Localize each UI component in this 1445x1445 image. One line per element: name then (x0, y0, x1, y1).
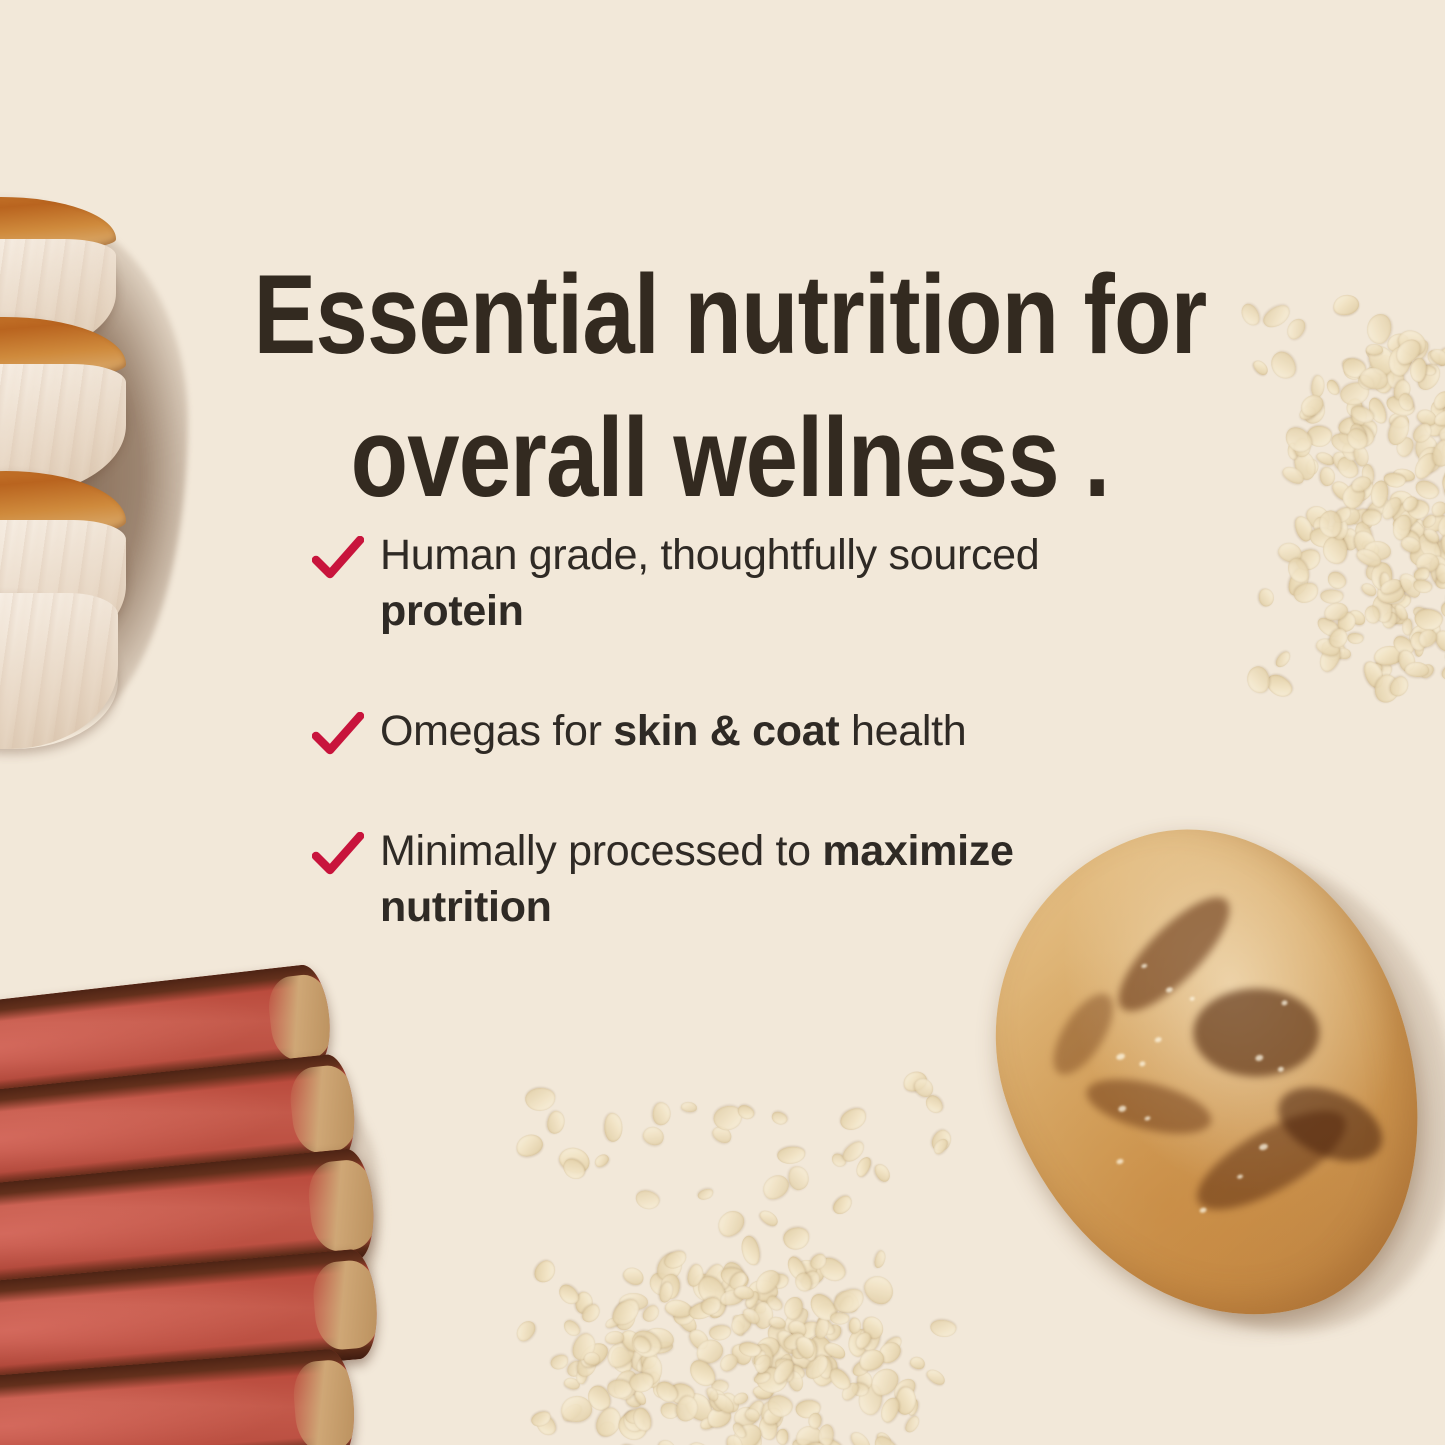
benefits-list: Human grade, thoughtfully sourced protei… (312, 528, 1172, 935)
list-item: Human grade, thoughtfully sourced protei… (312, 528, 1172, 640)
list-item-label: Human grade, thoughtfully sourced protei… (380, 528, 1172, 640)
check-icon (312, 712, 364, 758)
promo-banner: Essential nutrition for overall wellness… (0, 0, 1445, 1445)
check-icon (312, 536, 364, 582)
page-title: Essential nutrition for overall wellness… (243, 243, 1217, 530)
list-item: Omegas for skin & coat health (312, 704, 1172, 760)
headline-line-1: Essential nutrition for (243, 243, 1217, 386)
list-item-label: Omegas for skin & coat health (380, 704, 1172, 760)
list-item-label: Minimally processed to maximize nutritio… (380, 824, 1172, 936)
content-layer: Essential nutrition for overall wellness… (0, 0, 1445, 1445)
list-item: Minimally processed to maximize nutritio… (312, 824, 1172, 936)
headline-line-2: overall wellness . (243, 386, 1217, 529)
check-icon (312, 832, 364, 878)
